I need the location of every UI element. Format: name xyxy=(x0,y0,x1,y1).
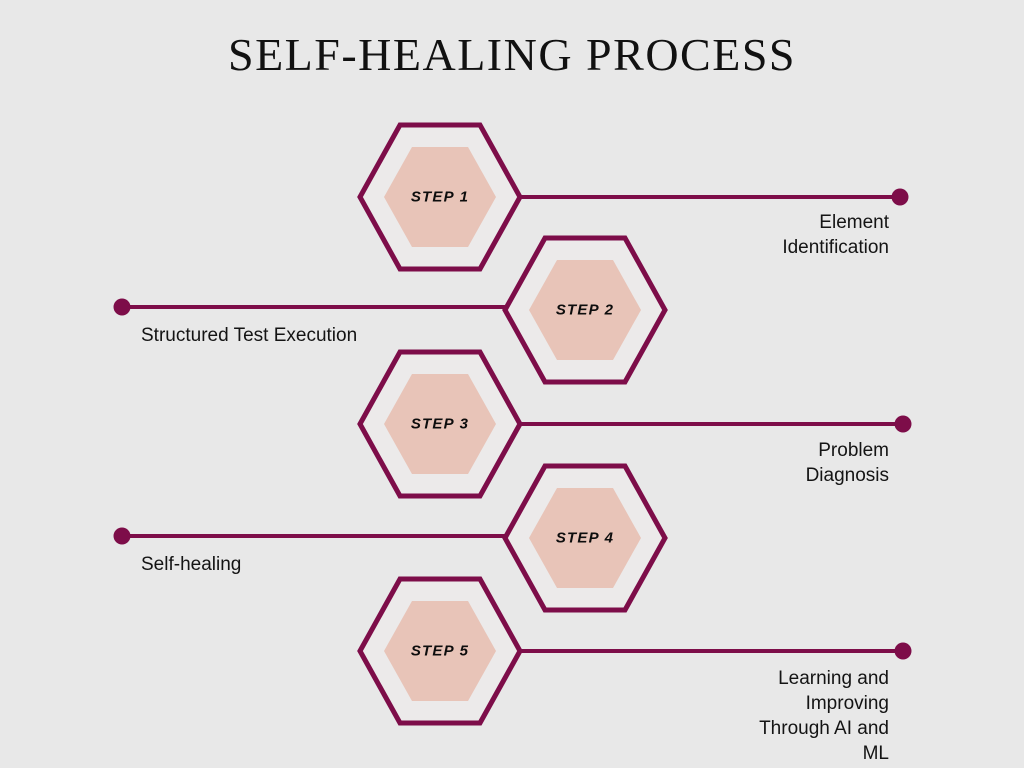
step-badge-5: STEP 5 xyxy=(411,643,469,660)
endpoint-dot-4 xyxy=(114,528,131,545)
page-title: SELF-HEALING PROCESS xyxy=(0,28,1024,81)
process-diagram xyxy=(0,0,1024,768)
step-description-4: Self-healing xyxy=(141,552,241,577)
infographic-root: SELF-HEALING PROCESS STEP 1STEP 2STEP 3S… xyxy=(0,0,1024,768)
step-badge-2: STEP 2 xyxy=(556,302,614,319)
step-description-2: Structured Test Execution xyxy=(141,323,357,348)
endpoint-dot-2 xyxy=(114,299,131,316)
step-badge-1: STEP 1 xyxy=(411,189,469,206)
endpoint-dot-5 xyxy=(895,643,912,660)
endpoint-dot-3 xyxy=(895,416,912,433)
step-badge-4: STEP 4 xyxy=(556,530,614,547)
endpoint-dot-1 xyxy=(892,189,909,206)
step-badge-3: STEP 3 xyxy=(411,416,469,433)
step-description-3: Problem Diagnosis xyxy=(754,438,889,488)
step-description-5: Learning and Improving Through AI and ML xyxy=(754,666,889,766)
step-description-1: Element Identification xyxy=(754,210,889,260)
